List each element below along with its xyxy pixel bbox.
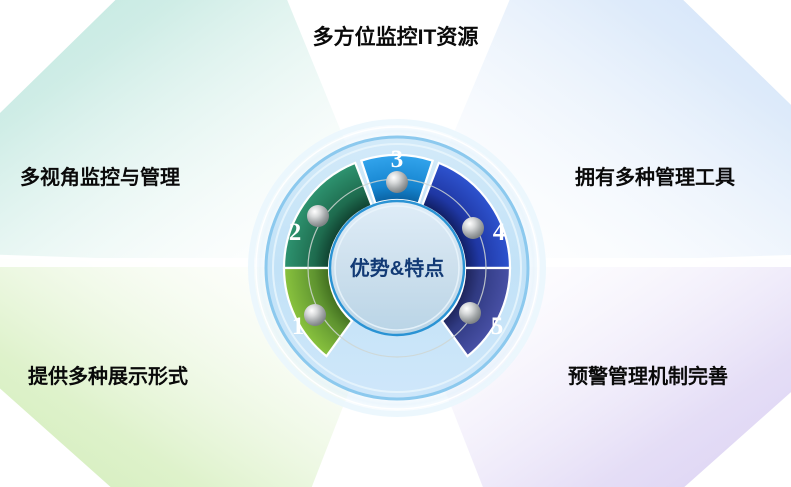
donut-wheel: 优势&特点 3 2 1 4 5	[0, 0, 791, 487]
bead-marker-5[interactable]	[459, 302, 481, 324]
segment-number-3: 3	[391, 146, 404, 173]
center-label: 优势&特点	[350, 256, 444, 280]
label-top: 多方位监控IT资源	[0, 27, 791, 48]
label-right-upper: 拥有多种管理工具	[575, 168, 735, 188]
segment-number-1: 1	[292, 313, 305, 340]
bead-marker-4[interactable]	[462, 217, 484, 239]
segment-number-5: 5	[491, 313, 504, 340]
label-left-upper: 多视角监控与管理	[20, 168, 180, 188]
label-left-lower: 提供多种展示形式	[28, 367, 188, 387]
diagram-canvas: 优势&特点 3 2 1 4 5 多方位监控IT资源 多视角监控与管理 提供多种展…	[0, 0, 791, 487]
bead-marker-1[interactable]	[304, 304, 326, 326]
segment-number-4: 4	[493, 219, 506, 246]
bead-marker-2[interactable]	[307, 205, 329, 227]
segment-number-2: 2	[289, 219, 302, 246]
bead-marker-3[interactable]	[386, 171, 408, 193]
label-right-lower: 预警管理机制完善	[568, 367, 728, 387]
